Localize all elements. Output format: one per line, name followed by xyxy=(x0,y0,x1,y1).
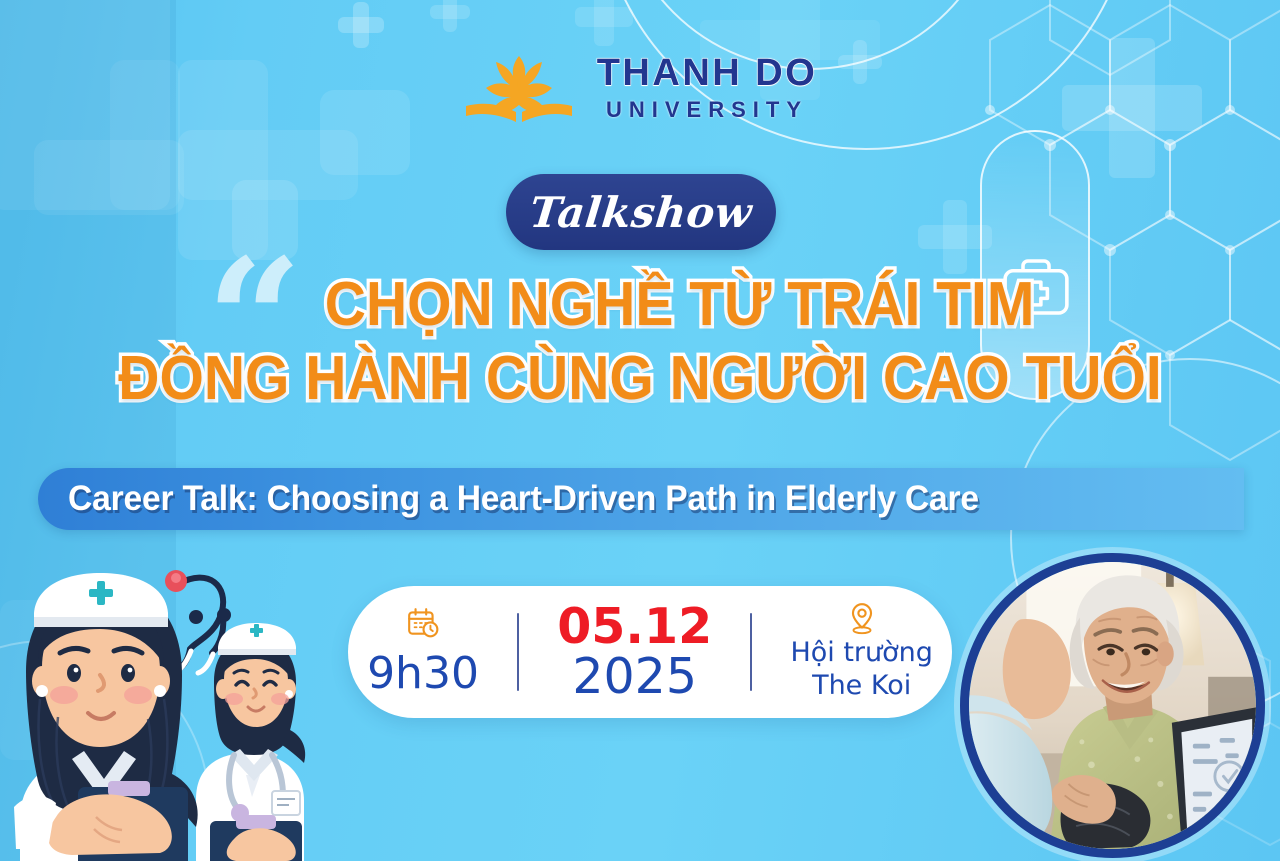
elderly-woman-photo xyxy=(960,553,1265,858)
headline-line-2: ĐỒNG HÀNH CÙNG NGƯỜI CAO TUỔI xyxy=(51,346,1229,412)
headline-line-1: CHỌN NGHỀ TỪ TRÁI TIM xyxy=(51,272,1229,338)
medical-cross-icon xyxy=(430,0,470,32)
lotus-book-logo-icon xyxy=(463,48,575,126)
medical-cross-icon xyxy=(575,0,633,46)
location-pin-icon xyxy=(846,601,878,635)
event-poster: THANH DO UNIVERSITY Talkshow “ CHỌN NGHỀ… xyxy=(0,0,1280,861)
info-venue-line-2: The Koi xyxy=(812,670,911,703)
calendar-clock-icon xyxy=(406,606,440,640)
info-divider-1 xyxy=(517,613,519,691)
nurse-left xyxy=(14,573,198,861)
stethoscope-icon xyxy=(174,578,223,671)
talkshow-badge-label: Talkshow xyxy=(527,188,754,237)
info-time: 9h30 xyxy=(367,606,479,699)
medical-cross-icon xyxy=(338,2,384,48)
elderly-woman-photo-image xyxy=(969,562,1256,849)
info-divider-2 xyxy=(750,613,752,691)
info-date: 05.12 2025 xyxy=(557,602,712,702)
logo-title: THANH DO xyxy=(597,54,818,92)
info-date-year: 2025 xyxy=(572,651,697,702)
info-date-day: 05.12 xyxy=(557,602,712,651)
event-info-bar: 9h30 05.12 2025 Hội trường The Koi xyxy=(348,586,952,718)
info-venue: Hội trường The Koi xyxy=(790,601,932,703)
two-nurses-illustration xyxy=(0,549,330,861)
decor-box xyxy=(178,130,358,200)
info-time-value: 9h30 xyxy=(367,648,479,699)
logo-subtitle: UNIVERSITY xyxy=(597,99,818,121)
subtitle-banner: Career Talk: Choosing a Heart-Driven Pat… xyxy=(38,468,1244,530)
medical-cross-icon xyxy=(918,200,992,274)
subtitle-text: Career Talk: Choosing a Heart-Driven Pat… xyxy=(68,479,979,519)
talkshow-badge: Talkshow xyxy=(506,174,776,250)
university-logo: THANH DO UNIVERSITY xyxy=(0,48,1280,126)
info-venue-line-1: Hội trường xyxy=(790,637,932,670)
decor-box xyxy=(34,140,184,215)
headline: CHỌN NGHỀ TỪ TRÁI TIM ĐỒNG HÀNH CÙNG NGƯ… xyxy=(0,272,1280,413)
